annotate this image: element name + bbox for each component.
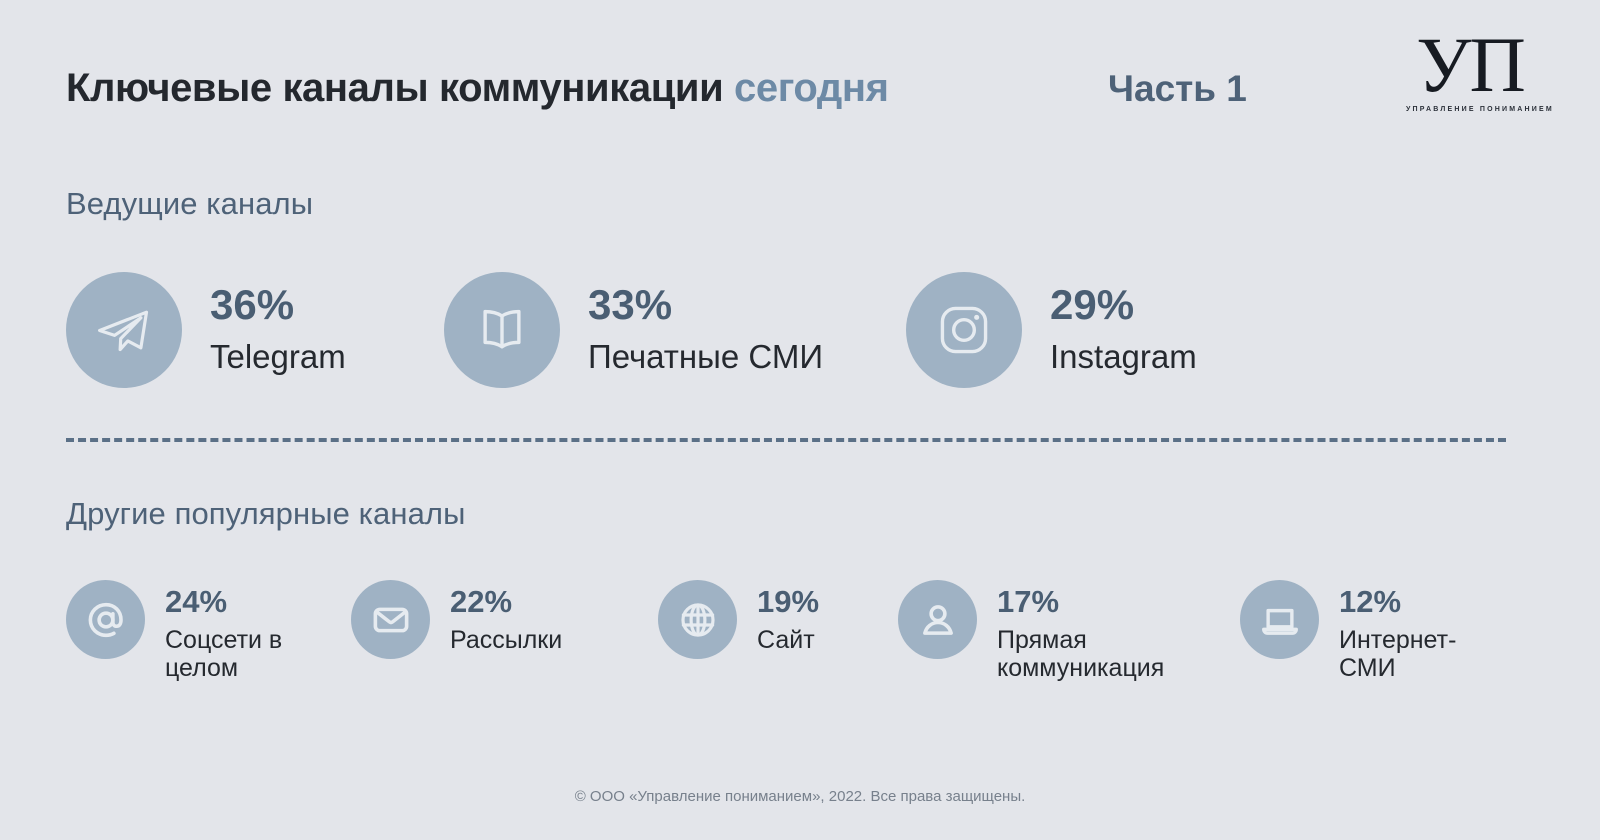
channel-name: Instagram [1050, 339, 1197, 376]
channel-card-website: 19% Сайт [658, 580, 898, 659]
channel-name: Печатные СМИ [588, 339, 823, 376]
brand-logo: УП УПРАВЛЕНИЕ ПОНИМАНИЕМ [1406, 28, 1534, 113]
open-book-icon [472, 300, 532, 360]
channel-text: 29% Instagram [1050, 272, 1197, 376]
channel-card-mailing: 22% Рассылки [351, 580, 658, 659]
channel-name: Прямая коммуникация [997, 626, 1212, 682]
channel-percent: 17% [997, 586, 1212, 617]
channel-card-telegram: 36% Telegram [66, 272, 444, 388]
channel-percent: 19% [757, 586, 819, 617]
at-sign-icon-bubble [66, 580, 145, 659]
header: Ключевые каналы коммуникации сегодня Час… [66, 58, 1534, 138]
channel-name: Telegram [210, 339, 346, 376]
instagram-icon-bubble [906, 272, 1022, 388]
channel-percent: 33% [588, 284, 823, 326]
channel-name: Интернет-СМИ [1339, 626, 1470, 682]
logo-monogram: УП [1406, 28, 1534, 102]
instagram-camera-icon [934, 300, 994, 360]
channel-percent: 24% [165, 586, 351, 617]
part-label: Часть 1 [1108, 68, 1247, 110]
channel-text: 24% Соцсети в целом [165, 580, 351, 682]
channel-card-direct-communication: 17% Прямая коммуникация [898, 580, 1240, 682]
channel-name: Соцсети в целом [165, 626, 351, 682]
channel-text: 22% Рассылки [450, 580, 562, 654]
leading-channels-row: 36% Telegram 33% Печатные СМИ [66, 272, 1236, 388]
globe-icon [678, 600, 718, 640]
infographic-slide: Ключевые каналы коммуникации сегодня Час… [0, 0, 1600, 840]
channel-text: 17% Прямая коммуникация [997, 580, 1212, 682]
open-book-icon-bubble [444, 272, 560, 388]
channel-percent: 29% [1050, 284, 1197, 326]
channel-text: 33% Печатные СМИ [588, 272, 823, 376]
footer-copyright: © ООО «Управление пониманием», 2022. Все… [0, 788, 1600, 805]
globe-icon-bubble [658, 580, 737, 659]
at-sign-icon [86, 600, 126, 640]
channel-percent: 36% [210, 284, 346, 326]
channel-card-print-media: 33% Печатные СМИ [444, 272, 906, 388]
telegram-plane-icon [94, 300, 154, 360]
section-title-other: Другие популярные каналы [66, 496, 465, 532]
page-title: Ключевые каналы коммуникации сегодня [66, 66, 889, 111]
page-title-main: Ключевые каналы коммуникации [66, 66, 734, 110]
channel-name: Сайт [757, 626, 819, 654]
laptop-icon-bubble [1240, 580, 1319, 659]
person-icon-bubble [898, 580, 977, 659]
logo-tagline: УПРАВЛЕНИЕ ПОНИМАНИЕМ [1406, 106, 1534, 113]
section-divider [66, 438, 1506, 442]
channel-percent: 22% [450, 586, 562, 617]
channel-text: 19% Сайт [757, 580, 819, 654]
channel-name: Рассылки [450, 626, 562, 654]
laptop-icon [1260, 600, 1300, 640]
channel-text: 12% Интернет-СМИ [1339, 580, 1470, 682]
telegram-icon-bubble [66, 272, 182, 388]
envelope-icon-bubble [351, 580, 430, 659]
channel-card-instagram: 29% Instagram [906, 272, 1236, 388]
channel-percent: 12% [1339, 586, 1470, 617]
section-title-leading: Ведущие каналы [66, 186, 313, 222]
envelope-icon [371, 600, 411, 640]
page-title-accent: сегодня [734, 66, 889, 110]
channel-card-internet-media: 12% Интернет-СМИ [1240, 580, 1470, 682]
channel-text: 36% Telegram [210, 272, 346, 376]
other-channels-row: 24% Соцсети в целом 22% Рассылки [66, 580, 1470, 682]
channel-card-social-networks: 24% Соцсети в целом [66, 580, 351, 682]
person-icon [918, 600, 958, 640]
